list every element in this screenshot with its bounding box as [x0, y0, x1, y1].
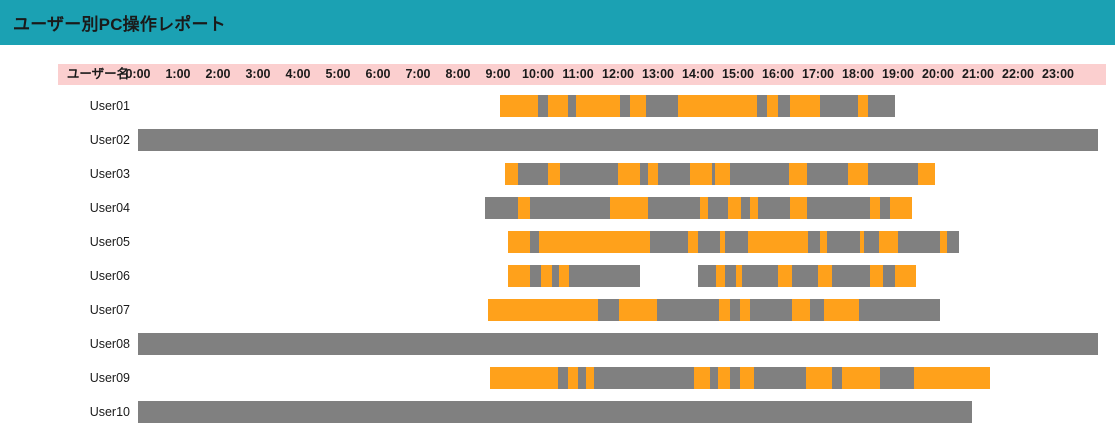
segment-idle[interactable]	[868, 163, 918, 185]
row-label-user: User10	[58, 395, 130, 429]
segment-idle[interactable]	[138, 333, 1098, 355]
row-label-user: User02	[58, 123, 130, 157]
row-label-user: User01	[58, 89, 130, 123]
time-axis-label: 21:00	[958, 64, 998, 85]
time-axis-label: 3:00	[238, 64, 278, 85]
row-timeline-track[interactable]	[138, 123, 1098, 157]
segment-idle[interactable]	[598, 299, 619, 321]
row-timeline-track[interactable]	[138, 157, 1098, 191]
table-row[interactable]: User01	[0, 89, 1115, 123]
segment-idle[interactable]	[807, 197, 870, 219]
time-axis-label: 12:00	[598, 64, 638, 85]
segment-idle[interactable]	[569, 265, 640, 287]
table-row[interactable]: User10	[0, 395, 1115, 429]
segment-idle[interactable]	[808, 231, 820, 253]
segment-active[interactable]	[790, 197, 807, 219]
segment-active[interactable]	[778, 265, 792, 287]
app-header: ユーザー別PC操作レポート	[0, 0, 1115, 45]
segment-active[interactable]	[870, 265, 883, 287]
table-row[interactable]: User09	[0, 361, 1115, 395]
segment-active[interactable]	[858, 95, 868, 117]
segment-active[interactable]	[508, 265, 530, 287]
segment-idle[interactable]	[658, 163, 690, 185]
segment-idle[interactable]	[730, 367, 740, 389]
segment-active[interactable]	[895, 265, 916, 287]
row-timeline-track[interactable]	[138, 259, 1098, 293]
segment-active[interactable]	[541, 265, 552, 287]
segment-idle[interactable]	[568, 95, 576, 117]
segment-active[interactable]	[718, 367, 730, 389]
segment-active[interactable]	[890, 197, 912, 219]
segment-idle[interactable]	[883, 265, 895, 287]
table-row[interactable]: User02	[0, 123, 1115, 157]
segment-idle[interactable]	[698, 265, 716, 287]
segment-active[interactable]	[648, 163, 658, 185]
segment-active[interactable]	[505, 163, 518, 185]
segment-idle[interactable]	[725, 265, 736, 287]
table-row[interactable]: User03	[0, 157, 1115, 191]
segment-active[interactable]	[678, 95, 757, 117]
segment-active[interactable]	[630, 95, 646, 117]
time-axis-label: 0:00	[118, 64, 158, 85]
segment-active[interactable]	[690, 163, 712, 185]
segment-active[interactable]	[940, 231, 947, 253]
segment-idle[interactable]	[594, 367, 694, 389]
segment-idle[interactable]	[730, 163, 789, 185]
segment-idle[interactable]	[560, 163, 618, 185]
segment-active[interactable]	[820, 231, 827, 253]
page-title: ユーザー別PC操作レポート	[13, 10, 226, 35]
segment-active[interactable]	[488, 299, 598, 321]
segment-active[interactable]	[576, 95, 620, 117]
segment-active[interactable]	[790, 95, 820, 117]
segment-active[interactable]	[719, 299, 730, 321]
segment-active[interactable]	[740, 299, 750, 321]
segment-active[interactable]	[842, 367, 880, 389]
time-axis-label: 19:00	[878, 64, 918, 85]
segment-idle[interactable]	[530, 265, 541, 287]
segment-idle[interactable]	[648, 197, 700, 219]
segment-idle[interactable]	[698, 231, 720, 253]
segment-idle[interactable]	[754, 367, 806, 389]
segment-active[interactable]	[767, 95, 778, 117]
row-label-user: User06	[58, 259, 130, 293]
time-axis-label: 17:00	[798, 64, 838, 85]
time-axis-label: 6:00	[358, 64, 398, 85]
segment-idle[interactable]	[620, 95, 630, 117]
segment-idle[interactable]	[725, 231, 748, 253]
segment-idle[interactable]	[810, 299, 824, 321]
gantt-chart: ユーザー名 0:001:002:003:004:005:006:007:008:…	[0, 45, 1115, 422]
time-axis-label: 22:00	[998, 64, 1038, 85]
segment-idle[interactable]	[640, 163, 648, 185]
segment-idle[interactable]	[657, 299, 719, 321]
time-axis-label: 1:00	[158, 64, 198, 85]
segment-active[interactable]	[824, 299, 859, 321]
time-axis-label: 18:00	[838, 64, 878, 85]
segment-idle[interactable]	[138, 401, 972, 423]
segment-active[interactable]	[818, 265, 832, 287]
segment-idle[interactable]	[778, 95, 790, 117]
row-label-user: User05	[58, 225, 130, 259]
segment-idle[interactable]	[552, 265, 559, 287]
segment-active[interactable]	[748, 231, 808, 253]
segment-active[interactable]	[716, 265, 725, 287]
segment-active[interactable]	[619, 299, 657, 321]
segment-active[interactable]	[848, 163, 868, 185]
segment-active[interactable]	[568, 367, 578, 389]
segment-idle[interactable]	[758, 197, 790, 219]
row-timeline-track[interactable]	[138, 361, 1098, 395]
time-axis-label: 7:00	[398, 64, 438, 85]
segment-idle[interactable]	[578, 367, 586, 389]
time-axis-label: 13:00	[638, 64, 678, 85]
segment-idle[interactable]	[650, 231, 688, 253]
segment-active[interactable]	[548, 163, 560, 185]
segment-active[interactable]	[539, 231, 650, 253]
time-axis-label: 4:00	[278, 64, 318, 85]
table-row[interactable]: User04	[0, 191, 1115, 225]
segment-active[interactable]	[559, 265, 569, 287]
segment-active[interactable]	[750, 197, 758, 219]
row-timeline-track[interactable]	[138, 225, 1098, 259]
segment-active[interactable]	[694, 367, 710, 389]
segment-idle[interactable]	[868, 95, 895, 117]
time-axis-label: 14:00	[678, 64, 718, 85]
segment-idle[interactable]	[880, 197, 890, 219]
segment-idle[interactable]	[947, 231, 959, 253]
time-axis-label: 15:00	[718, 64, 758, 85]
row-label-user: User07	[58, 293, 130, 327]
segment-active[interactable]	[688, 231, 698, 253]
segment-active[interactable]	[715, 163, 730, 185]
time-axis-label: 10:00	[518, 64, 558, 85]
segment-active[interactable]	[789, 163, 807, 185]
row-timeline-track[interactable]	[138, 327, 1098, 361]
segment-idle[interactable]	[138, 129, 1098, 151]
segment-idle[interactable]	[827, 231, 860, 253]
segment-idle[interactable]	[741, 197, 750, 219]
segment-idle[interactable]	[832, 265, 870, 287]
time-axis-label: 8:00	[438, 64, 478, 85]
segment-active[interactable]	[728, 197, 741, 219]
row-timeline-track[interactable]	[138, 191, 1098, 225]
segment-active[interactable]	[618, 163, 640, 185]
segment-active[interactable]	[870, 197, 880, 219]
row-label-user: User08	[58, 327, 130, 361]
table-row[interactable]: User06	[0, 259, 1115, 293]
time-axis-label: 5:00	[318, 64, 358, 85]
segment-idle[interactable]	[485, 197, 518, 219]
segment-idle[interactable]	[898, 231, 940, 253]
segment-active[interactable]	[518, 197, 530, 219]
segment-idle[interactable]	[807, 163, 848, 185]
row-timeline-track[interactable]	[138, 89, 1098, 123]
segment-idle[interactable]	[792, 265, 818, 287]
segment-idle[interactable]	[538, 95, 548, 117]
segment-idle[interactable]	[859, 299, 940, 321]
segment-idle[interactable]	[530, 197, 610, 219]
segment-idle[interactable]	[530, 231, 539, 253]
segment-active[interactable]	[918, 163, 935, 185]
segment-active[interactable]	[548, 95, 568, 117]
segment-active[interactable]	[508, 231, 530, 253]
time-axis-label: 23:00	[1038, 64, 1078, 85]
segment-active[interactable]	[490, 367, 558, 389]
table-row[interactable]: User08	[0, 327, 1115, 361]
segment-idle[interactable]	[757, 95, 767, 117]
row-timeline-track[interactable]	[138, 293, 1098, 327]
table-row[interactable]: User07	[0, 293, 1115, 327]
segment-idle[interactable]	[730, 299, 740, 321]
segment-idle[interactable]	[820, 95, 858, 117]
segment-active[interactable]	[700, 197, 708, 219]
segment-idle[interactable]	[880, 367, 914, 389]
time-axis-label: 9:00	[478, 64, 518, 85]
segment-idle[interactable]	[646, 95, 678, 117]
segment-idle[interactable]	[864, 231, 879, 253]
time-axis-label: 2:00	[198, 64, 238, 85]
row-label-user: User03	[58, 157, 130, 191]
segment-idle[interactable]	[832, 367, 842, 389]
segment-idle[interactable]	[708, 197, 728, 219]
time-axis-label: 11:00	[558, 64, 598, 85]
segment-idle[interactable]	[742, 265, 778, 287]
segment-idle[interactable]	[750, 299, 792, 321]
time-axis-label: 20:00	[918, 64, 958, 85]
segment-idle[interactable]	[558, 367, 568, 389]
segment-active[interactable]	[792, 299, 810, 321]
segment-active[interactable]	[586, 367, 594, 389]
segment-active[interactable]	[806, 367, 832, 389]
segment-active[interactable]	[610, 197, 648, 219]
segment-active[interactable]	[500, 95, 538, 117]
segment-idle[interactable]	[518, 163, 548, 185]
segment-active[interactable]	[879, 231, 898, 253]
table-row[interactable]: User05	[0, 225, 1115, 259]
segment-idle[interactable]	[710, 367, 718, 389]
row-label-user: User04	[58, 191, 130, 225]
time-axis-label: 16:00	[758, 64, 798, 85]
row-timeline-track[interactable]	[138, 395, 1098, 429]
row-label-user: User09	[58, 361, 130, 395]
segment-active[interactable]	[740, 367, 754, 389]
segment-active[interactable]	[914, 367, 990, 389]
